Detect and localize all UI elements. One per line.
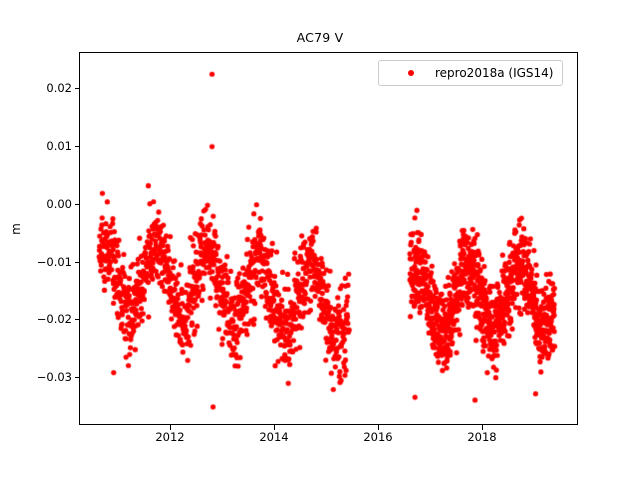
x-tick-label: 2012 — [135, 430, 205, 444]
scatter-plot — [80, 53, 577, 424]
x-tick-label: 2016 — [343, 430, 413, 444]
plot-axes-area — [79, 52, 578, 425]
y-tick-label: −0.03 — [16, 370, 72, 384]
legend[interactable]: repro2018a (IGS14) — [378, 60, 563, 86]
page-title: AC79 V — [0, 30, 640, 45]
legend-marker-cell — [387, 70, 435, 76]
x-tick-label: 2014 — [239, 430, 309, 444]
legend-label: repro2018a (IGS14) — [435, 66, 553, 80]
y-tick-label: 0.00 — [16, 197, 72, 211]
y-tick-label: −0.01 — [16, 255, 72, 269]
y-tick-label: 0.01 — [16, 139, 72, 153]
y-tick-label: 0.02 — [16, 81, 72, 95]
figure-canvas: AC79 V m 0.02 0.01 0.00 −0.01 −0.02 −0.0… — [0, 0, 640, 480]
y-tick-label: −0.02 — [16, 312, 72, 326]
circle-marker-icon — [408, 70, 414, 76]
x-tick-label: 2018 — [447, 430, 517, 444]
y-axis-tick-labels: 0.02 0.01 0.00 −0.01 −0.02 −0.03 — [10, 0, 72, 480]
